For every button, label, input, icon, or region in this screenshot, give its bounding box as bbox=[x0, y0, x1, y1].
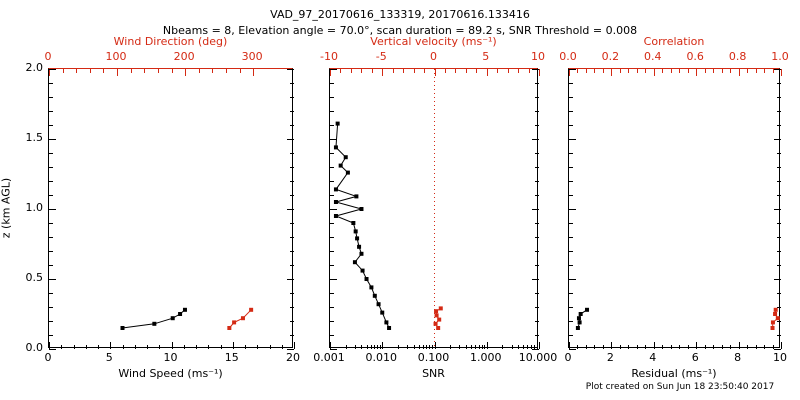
top-x-tick-label: 300 bbox=[242, 51, 263, 62]
top-x-tick-label: 0.2 bbox=[602, 51, 620, 62]
top-x-tick-label: 0.6 bbox=[686, 51, 704, 62]
data-point bbox=[354, 194, 358, 198]
top-x-tick-label: 10 bbox=[531, 51, 545, 62]
data-point bbox=[585, 308, 589, 312]
data-point bbox=[373, 294, 377, 298]
x-tick-label: 20 bbox=[286, 352, 300, 363]
x-tick-label: 10 bbox=[164, 352, 178, 363]
series-correlation bbox=[771, 308, 780, 330]
series-residual bbox=[576, 308, 589, 330]
series-layer bbox=[330, 69, 539, 349]
x-tick-label: 4 bbox=[649, 352, 656, 363]
y-minor-tick bbox=[569, 349, 573, 350]
x-tick-label: 1.000 bbox=[470, 352, 502, 363]
data-point bbox=[578, 320, 582, 324]
top-x-tick-label: 200 bbox=[174, 51, 195, 62]
data-point bbox=[232, 320, 236, 324]
data-point bbox=[355, 236, 359, 240]
x-tick-label: 5 bbox=[106, 352, 113, 363]
plot-canvas: VAD_97_20170616_133319, 20170616.133416 … bbox=[0, 0, 800, 400]
data-point bbox=[183, 308, 187, 312]
top-x-tick-label: -10 bbox=[320, 51, 338, 62]
top-x-tick-label: 0 bbox=[45, 51, 52, 62]
x-axis-label: Wind Speed (ms⁻¹) bbox=[118, 368, 222, 379]
data-point bbox=[437, 318, 441, 322]
y-minor-tick bbox=[777, 349, 781, 350]
data-point bbox=[384, 320, 388, 324]
data-point bbox=[249, 308, 253, 312]
data-point bbox=[344, 155, 348, 159]
x-axis-label: Residual (ms⁻¹) bbox=[631, 368, 716, 379]
page-title: VAD_97_20170616_133319, 20170616.133416 bbox=[270, 9, 530, 20]
x-tick-label: 15 bbox=[225, 352, 239, 363]
data-point bbox=[359, 252, 363, 256]
series-layer bbox=[49, 69, 294, 349]
series-layer bbox=[569, 69, 781, 349]
data-point bbox=[439, 306, 443, 310]
plot-panel-3 bbox=[568, 68, 780, 348]
y-minor-tick bbox=[49, 349, 53, 350]
series-wind-speed bbox=[121, 308, 187, 330]
top-x-tick-label: 5 bbox=[482, 51, 489, 62]
data-point bbox=[241, 316, 245, 320]
y-axis-label: z (km AGL) bbox=[0, 178, 13, 238]
data-point bbox=[171, 316, 175, 320]
x-axis-label: SNR bbox=[422, 368, 445, 379]
x-tick-label: 2 bbox=[607, 352, 614, 363]
top-x-tick-label: -5 bbox=[376, 51, 387, 62]
top-x-axis-label: Correlation bbox=[644, 36, 705, 47]
data-point bbox=[152, 322, 156, 326]
x-tick-label: 0.010 bbox=[366, 352, 398, 363]
data-point bbox=[380, 311, 384, 315]
y-minor-tick bbox=[290, 349, 294, 350]
y-tick-label: 1.5 bbox=[26, 132, 44, 143]
x-tick-mark bbox=[539, 342, 540, 349]
data-point bbox=[227, 326, 231, 330]
data-point bbox=[334, 187, 338, 191]
top-x-tick-label: 1.0 bbox=[771, 51, 789, 62]
data-point bbox=[776, 316, 780, 320]
data-point bbox=[434, 322, 438, 326]
data-point bbox=[771, 326, 775, 330]
data-point bbox=[334, 145, 338, 149]
data-point bbox=[579, 312, 583, 316]
data-point bbox=[773, 312, 777, 316]
data-point bbox=[577, 316, 581, 320]
plot-panel-2 bbox=[329, 68, 538, 348]
data-point bbox=[369, 285, 373, 289]
data-point bbox=[576, 326, 580, 330]
data-point bbox=[771, 320, 775, 324]
x-tick-label: 10.000 bbox=[519, 352, 558, 363]
data-point bbox=[336, 122, 340, 126]
data-point bbox=[351, 221, 355, 225]
series-vertical-velocity bbox=[434, 306, 443, 330]
top-x-axis-label: Vertical velocity (ms⁻¹) bbox=[370, 36, 496, 47]
top-x-tick-label: 0 bbox=[430, 51, 437, 62]
x-tick-label: 10 bbox=[773, 352, 787, 363]
y-minor-tick bbox=[330, 349, 334, 350]
data-point bbox=[357, 245, 361, 249]
top-x-tick-label: 0.0 bbox=[559, 51, 577, 62]
data-point bbox=[361, 269, 365, 273]
data-point bbox=[346, 171, 350, 175]
data-point bbox=[178, 312, 182, 316]
data-point bbox=[365, 277, 369, 281]
top-x-minor-tick bbox=[539, 69, 540, 73]
top-x-tick-label: 0.8 bbox=[729, 51, 747, 62]
data-point bbox=[436, 326, 440, 330]
x-minor-tick bbox=[294, 345, 295, 349]
data-point bbox=[334, 214, 338, 218]
data-point bbox=[353, 260, 357, 264]
x-minor-tick bbox=[781, 345, 782, 349]
data-point bbox=[359, 207, 363, 211]
x-tick-label: 0 bbox=[565, 352, 572, 363]
plot-panel-1 bbox=[48, 68, 293, 348]
x-tick-label: 8 bbox=[734, 352, 741, 363]
plot-created-footer: Plot created on Sun Jun 18 23:50:40 2017 bbox=[586, 383, 774, 392]
data-point bbox=[774, 308, 778, 312]
data-point bbox=[377, 302, 381, 306]
y-tick-label: 1.0 bbox=[26, 202, 44, 213]
x-tick-label: 0 bbox=[45, 352, 52, 363]
data-point bbox=[354, 229, 358, 233]
top-x-tick-label: 0.4 bbox=[644, 51, 662, 62]
y-tick-label: 0.5 bbox=[26, 272, 44, 283]
data-point bbox=[339, 164, 343, 168]
series-snr bbox=[334, 122, 391, 330]
top-x-minor-tick bbox=[781, 69, 782, 73]
data-point bbox=[434, 309, 438, 313]
x-tick-label: 6 bbox=[692, 352, 699, 363]
x-tick-label: 0.100 bbox=[418, 352, 450, 363]
data-point bbox=[387, 326, 391, 330]
y-minor-tick bbox=[535, 349, 539, 350]
y-tick-label: 2.0 bbox=[26, 62, 44, 73]
data-point bbox=[121, 326, 125, 330]
y-tick-label: 0.0 bbox=[26, 342, 44, 353]
data-point bbox=[435, 313, 439, 317]
top-x-tick-label: 100 bbox=[106, 51, 127, 62]
data-point bbox=[334, 200, 338, 204]
top-x-axis-label: Wind Direction (deg) bbox=[114, 36, 228, 47]
x-tick-label: 0.001 bbox=[313, 352, 345, 363]
series-wind-direction bbox=[227, 308, 253, 330]
